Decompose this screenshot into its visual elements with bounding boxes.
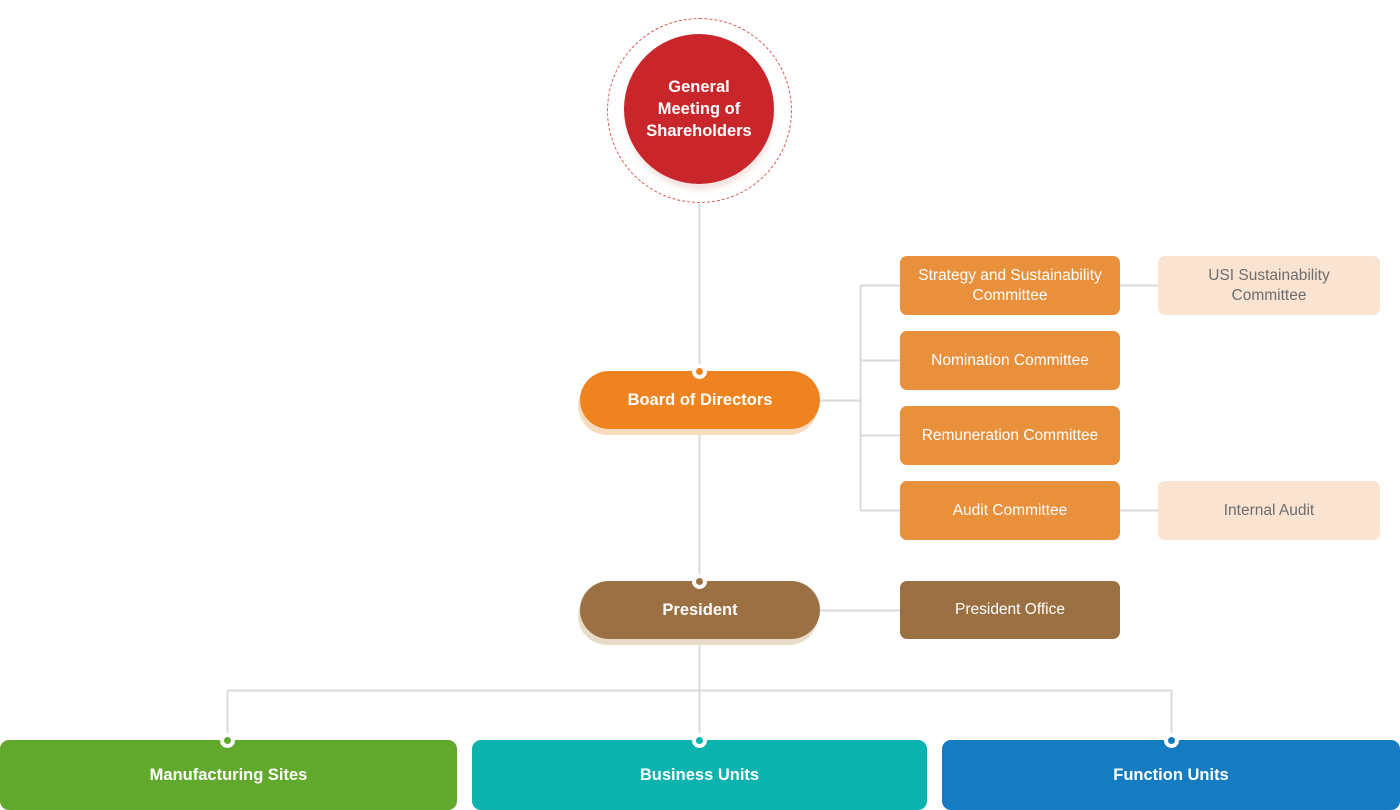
nomination-committee-node[interactable]: Nomination Committee — [900, 331, 1120, 390]
function-units-label: Function Units — [1113, 765, 1228, 786]
function-units-node[interactable]: Function Units — [942, 740, 1400, 810]
strategy-and-sustainability-committee-label: Strategy and Sustainability Committee — [912, 266, 1108, 305]
internal-audit-node[interactable]: Internal Audit — [1158, 481, 1380, 540]
audit-committee-node[interactable]: Audit Committee — [900, 481, 1120, 540]
remuneration-committee-node[interactable]: Remuneration Committee — [900, 406, 1120, 465]
usi-sustainability-committee-node[interactable]: USI Sustainability Committee — [1158, 256, 1380, 315]
function-units-connector-dot — [1164, 733, 1179, 748]
board-of-directors-label: Board of Directors — [628, 390, 773, 411]
root-line-1: General — [668, 78, 729, 96]
org-chart: General Meeting of Shareholders Board of… — [0, 0, 1400, 810]
general-meeting-of-shareholders-node[interactable]: General Meeting of Shareholders — [607, 18, 792, 203]
business-units-label: Business Units — [640, 765, 759, 786]
root-line-2: Meeting of — [658, 100, 741, 118]
internal-audit-label: Internal Audit — [1224, 501, 1314, 520]
strategy-and-sustainability-committee-node[interactable]: Strategy and Sustainability Committee — [900, 256, 1120, 315]
president-label: President — [662, 600, 737, 621]
manufacturing-sites-connector-dot — [220, 733, 235, 748]
board-connector-dot — [692, 364, 707, 379]
board-of-directors-node[interactable]: Board of Directors — [580, 371, 820, 429]
nomination-committee-label: Nomination Committee — [931, 351, 1089, 370]
president-connector-dot — [692, 574, 707, 589]
business-units-node[interactable]: Business Units — [472, 740, 927, 810]
president-office-label: President Office — [955, 600, 1065, 619]
business-units-connector-dot — [692, 733, 707, 748]
remuneration-committee-label: Remuneration Committee — [922, 426, 1099, 445]
usi-sustainability-committee-label: USI Sustainability Committee — [1170, 266, 1368, 305]
audit-committee-label: Audit Committee — [953, 501, 1068, 520]
president-office-node[interactable]: President Office — [900, 581, 1120, 639]
manufacturing-sites-label: Manufacturing Sites — [150, 765, 308, 786]
root-line-3: Shareholders — [646, 122, 751, 140]
manufacturing-sites-node[interactable]: Manufacturing Sites — [0, 740, 457, 810]
root-circle-label: General Meeting of Shareholders — [624, 34, 774, 184]
president-node[interactable]: President — [580, 581, 820, 639]
